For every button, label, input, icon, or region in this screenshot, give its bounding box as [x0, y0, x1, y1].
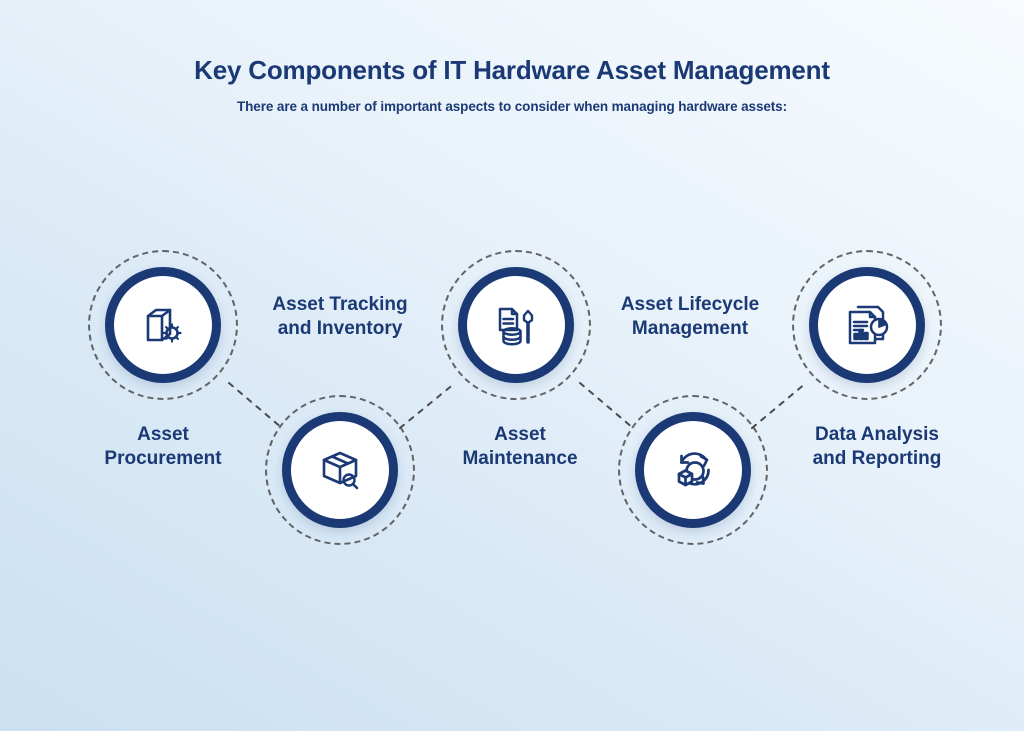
box-with-gear-icon: [137, 299, 189, 351]
label-asset-tracking-and-inventory: Asset Tracking and Inventory: [240, 293, 440, 342]
label-data-analysis-and-reporting: Data Analysis and Reporting: [777, 423, 977, 472]
label-asset-lifecycle-management: Asset Lifecycle Management: [590, 293, 790, 342]
circle-badge[interactable]: [635, 412, 751, 528]
label-asset-procurement: Asset Procurement: [63, 423, 263, 472]
node-asset-tracking-and-inventory[interactable]: [265, 395, 415, 545]
document-database-wrench-icon: [490, 299, 542, 351]
node-asset-maintenance[interactable]: [441, 250, 591, 400]
node-asset-lifecycle-management[interactable]: [618, 395, 768, 545]
node-asset-procurement[interactable]: [88, 250, 238, 400]
circle-badge[interactable]: [458, 267, 574, 383]
infographic-canvas: Key Components of IT Hardware Asset Mana…: [0, 0, 1024, 731]
label-asset-maintenance: Asset Maintenance: [420, 423, 620, 472]
package-with-magnifier-icon: [314, 444, 366, 496]
circle-badge[interactable]: [105, 267, 221, 383]
cycle-arrows-with-box-icon: [667, 444, 719, 496]
circle-badge[interactable]: [282, 412, 398, 528]
circle-badge[interactable]: [809, 267, 925, 383]
report-with-pie-chart-icon: [841, 299, 893, 351]
node-data-analysis-and-reporting[interactable]: [792, 250, 942, 400]
